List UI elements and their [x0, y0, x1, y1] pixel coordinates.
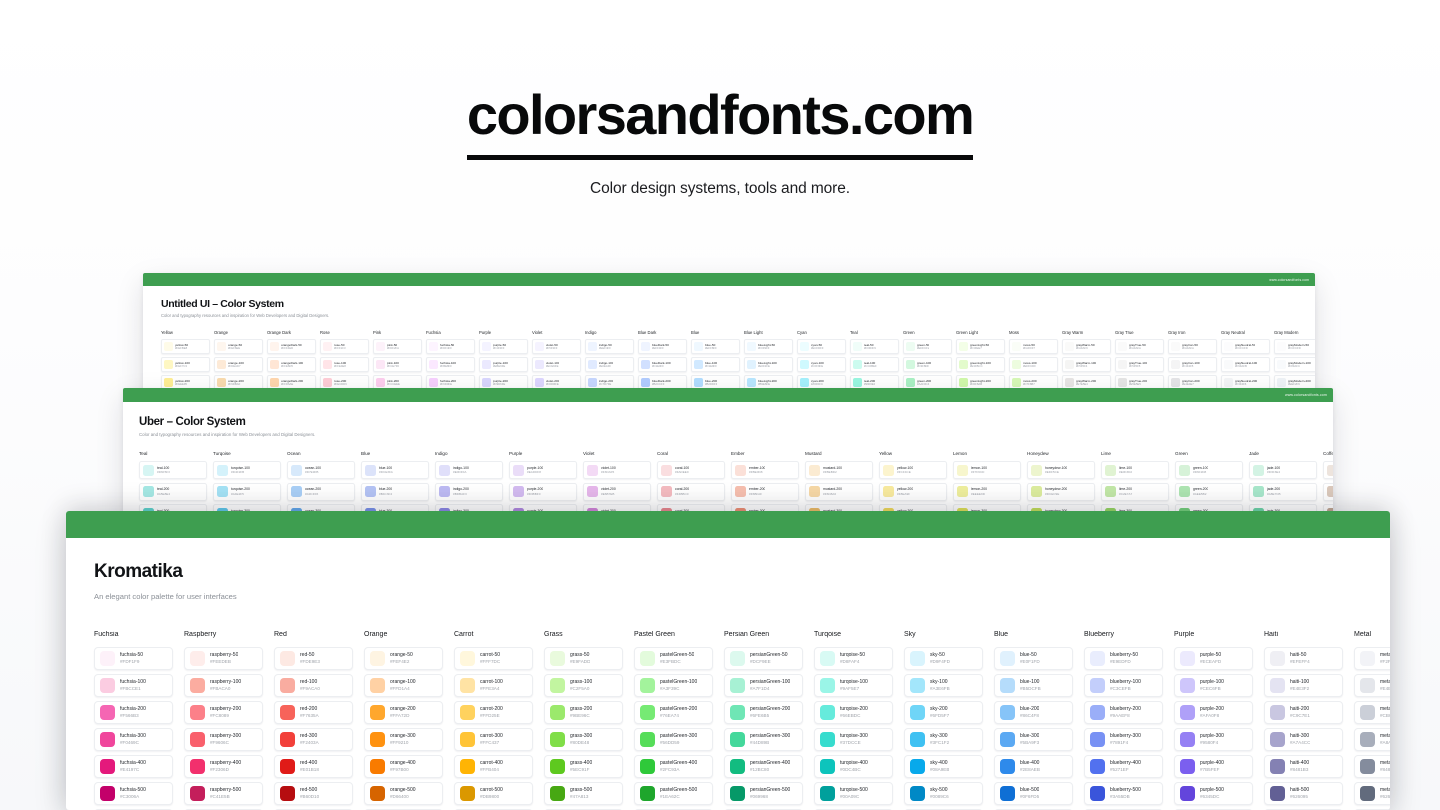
- color-hex-value: #E0F1FD: [1020, 659, 1040, 666]
- palette-column: Green LightgreenLight-50#F3FEE7greenLigh…: [956, 330, 1005, 393]
- palette-column-header: Turqoise: [814, 631, 893, 638]
- color-swatch[interactable]: haiti-200#C9C7E1: [1264, 701, 1343, 724]
- color-swatch[interactable]: fuchsia-50#FDF4FF: [426, 339, 475, 354]
- color-swatch[interactable]: pastelGreen-300#56DD59: [634, 728, 713, 751]
- color-swatch[interactable]: cyan-50#ECFDFF: [797, 339, 846, 354]
- color-hex-value: #E0F2FE: [758, 365, 777, 369]
- color-swatch[interactable]: metal-300#A8AEBB: [1354, 728, 1390, 751]
- palette-card-uber[interactable]: www.colorsandfonts.com Uber – Color Syst…: [123, 388, 1333, 520]
- color-swatch[interactable]: persianGreen-200#6FE6B5: [724, 701, 803, 724]
- color-swatch[interactable]: orange-500#D66400: [364, 782, 443, 805]
- color-hex-value: #FEF4E2: [390, 659, 413, 666]
- color-swatch[interactable]: grass-500#47A813: [544, 782, 623, 805]
- color-swatch[interactable]: indigo-100#E0EAFF: [585, 357, 634, 372]
- color-hex-value: #F2306D: [210, 767, 241, 774]
- color-swatch[interactable]: jade-100#D3F3E4: [1249, 461, 1317, 479]
- color-token-name: blueberry-100: [1110, 679, 1141, 686]
- color-swatch[interactable]: orange-50#FEF4E2: [364, 647, 443, 670]
- color-chip: [1253, 486, 1264, 497]
- color-swatch[interactable]: purple-100#EADDF8: [509, 461, 577, 479]
- color-swatch-text: orange-100#FDEAD7: [228, 361, 244, 369]
- color-swatch-text: sky-300#3FC1F2: [930, 733, 949, 747]
- color-chip: [439, 486, 450, 497]
- color-hex-value: #EFEFF4: [1290, 659, 1310, 666]
- color-token-name: red-300: [300, 733, 319, 740]
- color-swatch[interactable]: ocean-200#A9CFF6: [287, 483, 355, 501]
- color-swatch[interactable]: violet-50#F5F3FF: [532, 339, 581, 354]
- palette-column: Gray WarmgrayWarm-50#FAFAF9grayWarm-100#…: [1062, 330, 1111, 393]
- palette-column: Fuchsiafuchsia-50#FDF4FFfuchsia-100#FBE8…: [426, 330, 475, 393]
- color-swatch[interactable]: blueberry-300#7891F4: [1084, 728, 1163, 751]
- card-title-uber: Uber – Color System: [139, 416, 1317, 428]
- color-swatch-text: blue-400#2E8AEB: [1020, 760, 1040, 774]
- color-chip: [1090, 786, 1105, 801]
- color-swatch-text: grayTrue-200#E5E5E5: [1129, 379, 1147, 387]
- color-swatch[interactable]: turqoise-200#66EBDC: [814, 701, 893, 724]
- color-token-name: blue-100: [1020, 679, 1041, 686]
- color-swatch-text: purple-100#EBE9FE: [493, 361, 508, 369]
- color-hex-value: #7B5FEF: [1200, 767, 1224, 774]
- color-swatch[interactable]: raspberry-200#FC8089: [184, 701, 263, 724]
- color-swatch[interactable]: red-100#F9ACA0: [274, 674, 353, 697]
- color-swatch[interactable]: sky-50#D9F4FD: [904, 647, 983, 670]
- color-swatch[interactable]: green-100#D6F2D8: [1175, 461, 1243, 479]
- color-chip: [906, 342, 915, 351]
- color-swatch[interactable]: lime-100#E0F3D2: [1101, 461, 1169, 479]
- color-swatch-text: green-100#D3F8DF: [917, 361, 931, 369]
- card-green-bar-kromatika: www.colorsandfonts.com: [66, 511, 1390, 538]
- color-swatch[interactable]: sky-100#A3E6FB: [904, 674, 983, 697]
- color-hex-value: #FDEAD7: [228, 365, 244, 369]
- color-swatch[interactable]: yellow-100#FCF4CE: [879, 461, 947, 479]
- color-swatch[interactable]: sky-300#3FC1F2: [904, 728, 983, 751]
- color-hex-value: #B9E6FE: [758, 383, 777, 387]
- color-swatch[interactable]: purple-50#F4F3FF: [479, 339, 528, 354]
- color-token-name: blueberry-500: [1110, 787, 1141, 794]
- color-token-name: blueberry-50: [1110, 652, 1138, 659]
- color-swatch[interactable]: lime-200#C2E7A7: [1101, 483, 1169, 501]
- color-chip: [959, 360, 968, 369]
- color-chip: [323, 360, 332, 369]
- color-swatch[interactable]: fuchsia-500#C3006A: [94, 782, 173, 805]
- color-swatch[interactable]: green-200#AEE5B2: [1175, 483, 1243, 501]
- color-swatch[interactable]: turqoise-400#0DC4BC: [814, 755, 893, 778]
- color-swatch[interactable]: haiti-50#EFEFF4: [1264, 647, 1343, 670]
- color-chip: [1327, 486, 1333, 497]
- color-swatch[interactable]: sky-400#08A9EB: [904, 755, 983, 778]
- palette-column-header: Ocean: [287, 451, 355, 456]
- palette-column-header: Blue: [994, 631, 1073, 638]
- color-swatch[interactable]: grayWarm-50#FAFAF9: [1062, 339, 1111, 354]
- color-token-name: blue-300: [1020, 733, 1039, 740]
- color-swatch[interactable]: metal-100#E4E6EB: [1354, 674, 1390, 697]
- color-swatch-text: pastelGreen-500#1EA62C: [660, 787, 697, 801]
- color-swatch-text: grayModern-200#EEF2F6: [1288, 379, 1311, 387]
- color-swatch[interactable]: yellow-200#F8EA9F: [879, 483, 947, 501]
- color-swatch[interactable]: grass-200#9BE96C: [544, 701, 623, 724]
- color-swatch[interactable]: carrot-50#FFF7DC: [454, 647, 533, 670]
- color-token-name: purple-100: [1200, 679, 1224, 686]
- color-swatch[interactable]: purple-100#EBE9FE: [479, 357, 528, 372]
- color-hex-value: #EEF4FF: [599, 347, 612, 351]
- color-swatch[interactable]: carrot-100#FFE3A4: [454, 674, 533, 697]
- color-swatch[interactable]: orangeDark-100#FFE6D5: [267, 357, 316, 372]
- color-swatch[interactable]: blue-200#B4C3F4: [361, 483, 429, 501]
- color-chip: [164, 342, 173, 351]
- color-hex-value: #B2DDFF: [705, 383, 717, 387]
- color-swatch[interactable]: haiti-100#E4E3F2: [1264, 674, 1343, 697]
- color-swatch[interactable]: red-200#F7635A: [274, 701, 353, 724]
- color-swatch[interactable]: fuchsia-300#F0469C: [94, 728, 173, 751]
- palette-column: Indigoindigo-50#EEF4FFindigo-100#E0EAFFi…: [585, 330, 634, 393]
- color-swatch[interactable]: grayNeutral-50#FCFCFD: [1221, 339, 1270, 354]
- color-hex-value: #66EBDC: [840, 713, 868, 720]
- color-swatch[interactable]: raspberry-300#F9606C: [184, 728, 263, 751]
- color-swatch[interactable]: blueDark-100#D1E0FF: [638, 357, 687, 372]
- color-swatch-text: grayNeutral-200#F3F4F6: [1235, 379, 1257, 387]
- color-swatch[interactable]: grayModern-100#F8FAFC: [1274, 357, 1315, 372]
- color-hex-value: #D9D6FE: [493, 383, 508, 387]
- color-swatch[interactable]: grayTrue-100#F5F5F5: [1115, 357, 1164, 372]
- color-swatch[interactable]: orange-300#FF9210: [364, 728, 443, 751]
- color-swatch[interactable]: pastelGreen-500#1EA62C: [634, 782, 713, 805]
- color-hex-value: #D4F2FB: [231, 470, 250, 474]
- color-swatch[interactable]: ocean-100#D7E9FB: [287, 461, 355, 479]
- color-swatch-text: pink-100#FCE7F6: [387, 361, 399, 369]
- color-swatch[interactable]: persianGreen-500#069968: [724, 782, 803, 805]
- palette-column-header: Turqoise: [213, 451, 281, 456]
- color-hex-value: #CCFBEF: [864, 365, 877, 369]
- palette-column-header: Haiti: [1264, 631, 1343, 638]
- color-swatch[interactable]: green-50#EDFCF2: [903, 339, 952, 354]
- color-chip: [730, 786, 745, 801]
- color-hex-value: #B60D10: [300, 794, 319, 801]
- color-swatch[interactable]: raspberry-500#C41E5B: [184, 782, 263, 805]
- color-swatch[interactable]: blue-200#86C4F8: [994, 701, 1073, 724]
- color-swatch[interactable]: violet-200#E6B7EB: [583, 483, 651, 501]
- color-swatch[interactable]: green-100#D3F8DF: [903, 357, 952, 372]
- color-swatch[interactable]: metal-50#F2F3F7: [1354, 647, 1390, 670]
- color-swatch[interactable]: honeydew-100#EDF5CE: [1027, 461, 1095, 479]
- color-hex-value: #F9ACA0: [300, 686, 320, 693]
- color-swatch[interactable]: lemon-200#EEEE9D: [953, 483, 1021, 501]
- color-swatch[interactable]: coffee-100#EDE4DD: [1323, 461, 1333, 479]
- color-swatch[interactable]: ember-100#FBE0D8: [731, 461, 799, 479]
- color-swatch[interactable]: blueLight-100#E0F2FE: [744, 357, 793, 372]
- color-swatch[interactable]: indigo-200#BDBAF3: [435, 483, 503, 501]
- color-swatch[interactable]: red-400#E01B18: [274, 755, 353, 778]
- color-swatch[interactable]: blue-100#DCE3FA: [361, 461, 429, 479]
- color-swatch[interactable]: blueberry-50#E9EDFD: [1084, 647, 1163, 670]
- palette-column-header: Pink: [373, 330, 422, 335]
- color-hex-value: #EFF8FF: [705, 347, 717, 351]
- color-token-name: persianGreen-500: [750, 787, 790, 794]
- color-hex-value: #B2CCFF: [652, 383, 671, 387]
- color-swatch[interactable]: mustard-100#FBEBD2: [805, 461, 873, 479]
- color-swatch[interactable]: grass-100#C2F5A0: [544, 674, 623, 697]
- color-swatch[interactable]: moss-50#FAFDF7: [1009, 339, 1058, 354]
- color-token-name: pastelGreen-300: [660, 733, 697, 740]
- color-chip: [730, 705, 745, 720]
- color-swatch[interactable]: red-50#FDE9E3: [274, 647, 353, 670]
- palette-column-header: Grass: [544, 631, 623, 638]
- color-swatch[interactable]: greenLight-100#E3FBCC: [956, 357, 1005, 372]
- color-swatch[interactable]: pink-50#FDF2FA: [373, 339, 422, 354]
- color-swatch[interactable]: rose-50#FFF1F3: [320, 339, 369, 354]
- palette-column-header: Pastel Green: [634, 631, 713, 638]
- color-swatch[interactable]: blue-50#EFF8FF: [691, 339, 740, 354]
- color-swatch[interactable]: honeydew-200#DCEC9E: [1027, 483, 1095, 501]
- color-swatch[interactable]: teal-50#F0FDF9: [850, 339, 899, 354]
- color-swatch[interactable]: haiti-400#8481B3: [1264, 755, 1343, 778]
- color-swatch[interactable]: grass-50#E9FADD: [544, 647, 623, 670]
- color-swatch[interactable]: metal-200#CBCFD8: [1354, 701, 1390, 724]
- color-swatch[interactable]: fuchsia-400#E4197C: [94, 755, 173, 778]
- color-swatch[interactable]: orange-400#F97B00: [364, 755, 443, 778]
- color-swatch[interactable]: pastelGreen-200#76EA74: [634, 701, 713, 724]
- color-hex-value: #FAFDF7: [1023, 347, 1035, 351]
- color-chip: [1012, 342, 1021, 351]
- color-swatch[interactable]: sky-200#6FD5F7: [904, 701, 983, 724]
- palette-column: Carrotcarrot-50#FFF7DCcarrot-100#FFE3A4c…: [454, 631, 533, 810]
- color-hex-value: #D7E9FB: [305, 470, 321, 474]
- color-swatch[interactable]: orange-100#FDEAD7: [214, 357, 263, 372]
- color-swatch[interactable]: pink-100#FCE7F6: [373, 357, 422, 372]
- color-swatch-text: blueLight-100#E0F2FE: [758, 361, 777, 369]
- color-swatch[interactable]: orange-100#FFD1A4: [364, 674, 443, 697]
- color-swatch[interactable]: haiti-300#A7A4CC: [1264, 728, 1343, 751]
- color-swatch[interactable]: haiti-500#626095: [1264, 782, 1343, 805]
- color-swatch[interactable]: coral-200#F4BBC0: [657, 483, 725, 501]
- color-swatch[interactable]: indigo-50#EEF4FF: [585, 339, 634, 354]
- color-hex-value: #F9FAFB: [1235, 365, 1257, 369]
- color-swatch[interactable]: red-300#F2403A: [274, 728, 353, 751]
- color-hex-value: #B5DCFB: [1020, 686, 1041, 693]
- color-swatch[interactable]: jade-200#A8E7CB: [1249, 483, 1317, 501]
- color-swatch[interactable]: blueberry-500#3A55DB: [1084, 782, 1163, 805]
- color-swatch[interactable]: violet-100#ECE9FE: [532, 357, 581, 372]
- color-swatch[interactable]: turqoise-100#9AF5E7: [814, 674, 893, 697]
- color-hex-value: #FFB404: [480, 767, 503, 774]
- color-token-name: orange-500: [390, 787, 416, 794]
- color-chip: [730, 678, 745, 693]
- color-swatch[interactable]: blue-500#0F6FD5: [994, 782, 1073, 805]
- color-hex-value: #F566B3: [120, 713, 146, 720]
- palette-card-kromatika[interactable]: www.colorsandfonts.com Kromatika An eleg…: [66, 511, 1390, 810]
- color-chip: [640, 705, 655, 720]
- color-swatch[interactable]: grayIron-100#F4F4F5: [1168, 357, 1217, 372]
- color-swatch-text: ember-100#FBE0D8: [749, 466, 765, 475]
- color-chip: [429, 342, 438, 351]
- color-swatch[interactable]: fuchsia-100#FBE8FF: [426, 357, 475, 372]
- color-swatch[interactable]: teal-200#A5E8E4: [139, 483, 207, 501]
- color-chip: [100, 759, 115, 774]
- color-hex-value: #A5E8E4: [157, 492, 170, 496]
- color-swatch-text: indigo-100#E0EAFF: [599, 361, 613, 369]
- color-swatch[interactable]: pastelGreen-100#A3F39C: [634, 674, 713, 697]
- palette-column: Jadejade-100#D3F3E4jade-200#A8E7CBjade-3…: [1249, 451, 1317, 520]
- color-swatch-text: blueberry-50#E9EDFD: [1110, 652, 1138, 666]
- color-swatch[interactable]: ember-200#F6BFAF: [731, 483, 799, 501]
- color-chip: [1012, 360, 1021, 369]
- color-swatch[interactable]: metal-500#626B7D: [1354, 782, 1390, 805]
- color-hex-value: #E3FBCC: [970, 365, 991, 369]
- color-swatch[interactable]: blueberry-200#9AAEF8: [1084, 701, 1163, 724]
- color-chip: [429, 360, 438, 369]
- color-swatch[interactable]: orangeDark-50#FFF4ED: [267, 339, 316, 354]
- color-swatch[interactable]: fuchsia-200#F566B3: [94, 701, 173, 724]
- color-swatch[interactable]: coffee-200#DBC9BC: [1323, 483, 1333, 501]
- color-swatch[interactable]: moss-100#EDFCDF: [1009, 357, 1058, 372]
- color-swatch[interactable]: grayModern-50#FCFCFD: [1274, 339, 1315, 354]
- color-swatch[interactable]: grayNeutral-100#F9FAFB: [1221, 357, 1270, 372]
- color-hex-value: #FC8089: [210, 713, 241, 720]
- color-swatch[interactable]: blueLight-50#F0F9FF: [744, 339, 793, 354]
- color-swatch[interactable]: purple-400#7B5FEF: [1174, 755, 1253, 778]
- color-swatch[interactable]: blueberry-100#C3CEFB: [1084, 674, 1163, 697]
- color-chip: [460, 678, 475, 693]
- color-swatch[interactable]: purple-100#CEC6FB: [1174, 674, 1253, 697]
- color-token-name: carrot-50: [480, 652, 500, 659]
- color-swatch[interactable]: blueberry-400#5271EF: [1084, 755, 1163, 778]
- color-swatch[interactable]: orange-200#FFA72D: [364, 701, 443, 724]
- color-hex-value: #FFA72D: [390, 713, 416, 720]
- color-swatch-text: grass-200#9BE96C: [570, 706, 592, 720]
- color-swatch[interactable]: turqoise-50#D8FAF4: [814, 647, 893, 670]
- color-swatch-text: grass-100#C2F5A0: [570, 679, 592, 693]
- color-swatch[interactable]: carrot-500#DB9800: [454, 782, 533, 805]
- color-swatch[interactable]: rose-100#FFE4E8: [320, 357, 369, 372]
- color-swatch[interactable]: grayIron-50#FAFAFA: [1168, 339, 1217, 354]
- color-hex-value: #F2F3F7: [1380, 659, 1390, 666]
- color-hex-value: #FCFCFD: [1235, 347, 1255, 351]
- color-chip: [1360, 651, 1375, 666]
- color-swatch[interactable]: persianGreen-50#DCF9EE: [724, 647, 803, 670]
- color-swatch-text: fuchsia-300#F0469C: [120, 733, 146, 747]
- color-swatch[interactable]: carrot-200#FFD25E: [454, 701, 533, 724]
- color-swatch-text: violet-100#F3DAF5: [601, 466, 616, 475]
- color-swatch-text: greenLight-50#F3FEE7: [970, 343, 989, 351]
- color-swatch[interactable]: raspberry-100#FBACA0: [184, 674, 263, 697]
- color-swatch[interactable]: turqoise-300#37DCCE: [814, 728, 893, 751]
- color-swatch[interactable]: teal-100#D6F5F3: [139, 461, 207, 479]
- color-swatch-text: persianGreen-100#A7F1D4: [750, 679, 790, 693]
- color-swatch[interactable]: indigo-100#E0DFFA: [435, 461, 503, 479]
- color-swatch[interactable]: purple-50#ECEAFD: [1174, 647, 1253, 670]
- color-hex-value: #AFA0F8: [1200, 713, 1224, 720]
- color-swatch[interactable]: blue-300#5BA9F3: [994, 728, 1073, 751]
- color-swatch[interactable]: turqoise-100#D4F2FB: [213, 461, 281, 479]
- color-swatch[interactable]: persianGreen-300#44D89B: [724, 728, 803, 751]
- color-swatch-text: pastelGreen-100#A3F39C: [660, 679, 697, 693]
- color-swatch[interactable]: purple-200#AFA0F8: [1174, 701, 1253, 724]
- color-chip: [1180, 651, 1195, 666]
- color-swatch[interactable]: fuchsia-100#FBCCE1: [94, 674, 173, 697]
- color-swatch[interactable]: blue-400#2E8AEB: [994, 755, 1073, 778]
- color-swatch[interactable]: purple-200#D3BBF0: [509, 483, 577, 501]
- palette-column: Blueberryblueberry-50#E9EDFDblueberry-10…: [1084, 631, 1163, 810]
- color-hex-value: #F4F4F5: [1182, 365, 1200, 369]
- color-hex-value: #9580F4: [1200, 740, 1224, 747]
- color-swatch[interactable]: grass-400#5EC91F: [544, 755, 623, 778]
- color-swatch-text: teal-200#A5E8E4: [157, 487, 170, 496]
- color-swatch[interactable]: raspberry-50#FEEDEB: [184, 647, 263, 670]
- color-swatch-text: coral-100#FADEE0: [675, 466, 689, 475]
- color-swatch[interactable]: turqoise-500#00A09C: [814, 782, 893, 805]
- color-chip: [1000, 759, 1015, 774]
- color-hex-value: #CFF9FE: [811, 365, 824, 369]
- color-hex-value: #FCFCFD: [1288, 347, 1309, 351]
- color-swatch[interactable]: violet-100#F3DAF5: [583, 461, 651, 479]
- color-swatch[interactable]: carrot-300#FFC437: [454, 728, 533, 751]
- color-token-name: fuchsia-300: [120, 733, 146, 740]
- color-swatch[interactable]: greenLight-50#F3FEE7: [956, 339, 1005, 354]
- color-swatch[interactable]: grayWarm-100#F5F5F4: [1062, 357, 1111, 372]
- color-swatch[interactable]: fuchsia-50#FDF1F9: [94, 647, 173, 670]
- color-swatch[interactable]: persianGreen-100#A7F1D4: [724, 674, 803, 697]
- color-swatch[interactable]: persianGreen-400#12BC80: [724, 755, 803, 778]
- color-swatch[interactable]: yellow-50#FEFBE8: [161, 339, 210, 354]
- color-token-name: metal-400: [1380, 760, 1390, 767]
- color-swatch[interactable]: sky-500#0089C6: [904, 782, 983, 805]
- color-swatch[interactable]: lemon-100#F7F6CD: [953, 461, 1021, 479]
- color-chip: [588, 360, 597, 369]
- color-swatch[interactable]: orange-50#FEF6EE: [214, 339, 263, 354]
- color-swatch[interactable]: carrot-400#FFB404: [454, 755, 533, 778]
- color-hex-value: #D66400: [390, 794, 416, 801]
- color-token-name: fuchsia-50: [120, 652, 143, 659]
- color-chip: [143, 486, 154, 497]
- color-swatch[interactable]: pastelGreen-400#2FC93A: [634, 755, 713, 778]
- color-swatch[interactable]: blue-100#B5DCFB: [994, 674, 1073, 697]
- color-chip: [460, 705, 475, 720]
- color-swatch-text: teal-200#99F6E0: [864, 379, 875, 387]
- color-swatch[interactable]: blue-50#E0F1FD: [994, 647, 1073, 670]
- color-chip: [1000, 705, 1015, 720]
- color-swatch[interactable]: coral-100#FADEE0: [657, 461, 725, 479]
- palette-column-header: Metal: [1354, 631, 1390, 638]
- color-chip: [460, 732, 475, 747]
- color-hex-value: #C7D7FE: [599, 383, 613, 387]
- color-swatch[interactable]: raspberry-400#F2306D: [184, 755, 263, 778]
- color-swatch[interactable]: cyan-100#CFF9FE: [797, 357, 846, 372]
- color-hex-value: #9BE96C: [570, 713, 592, 720]
- color-swatch[interactable]: yellow-100#FEF7C3: [161, 357, 210, 372]
- color-swatch-text: blueberry-400#5271EF: [1110, 760, 1141, 774]
- color-swatch[interactable]: turqoise-200#A4E2F5: [213, 483, 281, 501]
- color-chip: [291, 465, 302, 476]
- color-swatch[interactable]: pastelGreen-50#E3FBDC: [634, 647, 713, 670]
- color-swatch[interactable]: mustard-200#F6D8A6: [805, 483, 873, 501]
- color-token-name: sky-500: [930, 787, 949, 794]
- color-token-name: grass-100: [570, 679, 592, 686]
- palette-column: Roserose-50#FFF1F3rose-100#FFE4E8rose-20…: [320, 330, 369, 393]
- color-swatch[interactable]: metal-400#848C9D: [1354, 755, 1390, 778]
- color-swatch-text: persianGreen-500#069968: [750, 787, 790, 801]
- color-chip: [1180, 732, 1195, 747]
- color-swatch[interactable]: grass-300#80DE48: [544, 728, 623, 751]
- color-swatch[interactable]: red-500#B60D10: [274, 782, 353, 805]
- color-chip: [1118, 378, 1127, 387]
- palette-grid-kromatika: Fuchsiafuchsia-50#FDF1F9fuchsia-100#FBCC…: [94, 631, 1362, 810]
- color-swatch[interactable]: blueDark-50#EFF4FF: [638, 339, 687, 354]
- color-hex-value: #D3F3E4: [1267, 470, 1280, 474]
- color-swatch[interactable]: teal-100#CCFBEF: [850, 357, 899, 372]
- color-swatch[interactable]: purple-500#6345DC: [1174, 782, 1253, 805]
- color-swatch[interactable]: grayTrue-50#FAFAFA: [1115, 339, 1164, 354]
- color-swatch[interactable]: purple-300#9580F4: [1174, 728, 1253, 751]
- color-swatch[interactable]: blue-100#D1E9FF: [691, 357, 740, 372]
